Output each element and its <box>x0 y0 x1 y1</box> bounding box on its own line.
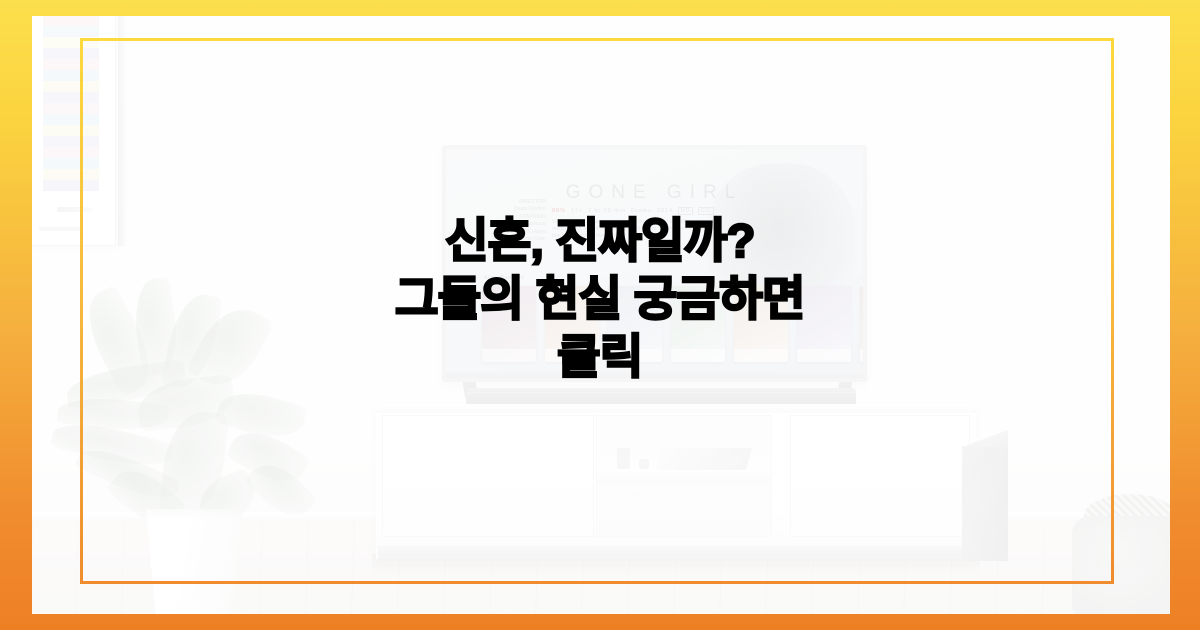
potted-plant <box>52 271 324 614</box>
tv-credits: DIRECTOR David Fincher STARRING Ben Affl… <box>484 199 546 243</box>
tv-year: 2014 <box>657 208 673 214</box>
tv-poster <box>482 286 536 362</box>
laptop <box>656 448 752 470</box>
tv-poster <box>608 286 662 362</box>
tv-score: 88% <box>552 208 566 214</box>
living-room-photo: GONE GIRL DIRECTOR David Fincher STARRIN… <box>32 16 1170 614</box>
tv-genre: Drama <box>631 208 652 214</box>
tv-rating: 17+ <box>571 208 583 214</box>
thumbnail-card: GONE GIRL DIRECTOR David Fincher STARRIN… <box>0 0 1200 630</box>
tv-poster <box>860 286 867 362</box>
artwork-stripes <box>43 16 99 197</box>
console-door-right <box>790 415 970 537</box>
tv-credit-cast: Ben Affleck Rosamund Pike Neil Patrick H… <box>492 221 546 242</box>
tv-poster <box>545 286 599 362</box>
knitted-pouf <box>1072 516 1170 614</box>
framed-striped-artwork <box>32 16 116 246</box>
artwork-signature <box>57 207 93 212</box>
remote-control <box>617 448 630 469</box>
console-kickplate <box>378 546 974 559</box>
photo-plate: GONE GIRL DIRECTOR David Fincher STARRIN… <box>32 16 1170 614</box>
streaming-box <box>639 459 649 469</box>
artwork-frame-edge <box>118 16 127 246</box>
tv-poster <box>671 286 725 362</box>
floor-speaker-tower <box>962 446 1008 561</box>
tv-meta-row: 88% 17+ 2 hr 29 min Drama 2014 HD CC <box>552 207 714 215</box>
tv-runtime: 2 hr 29 min <box>588 208 626 214</box>
tv-row-label: Also Watched <box>484 275 524 281</box>
console-shelf-board <box>597 470 771 483</box>
tv-cc-badge: CC <box>698 207 714 215</box>
flat-screen-tv: GONE GIRL DIRECTOR David Fincher STARRIN… <box>442 145 867 382</box>
tv-poster <box>797 286 851 362</box>
tv-console <box>376 404 976 559</box>
tv-poster <box>734 286 788 362</box>
tv-hd-badge: HD <box>678 207 694 215</box>
artwork-caption <box>39 227 83 231</box>
plant-pot <box>138 509 250 614</box>
tv-description: With his wife's disappearance having bec… <box>552 219 720 241</box>
tv-screen: GONE GIRL DIRECTOR David Fincher STARRIN… <box>446 149 863 378</box>
tv-credit-role-director: DIRECTOR <box>484 199 546 206</box>
tv-credit-role-starring: STARRING <box>484 214 546 221</box>
tv-poster-row <box>482 286 867 362</box>
tv-bottom-bezel <box>446 371 863 378</box>
console-open-shelf <box>596 415 772 537</box>
console-top-edge <box>376 404 976 413</box>
console-door-left <box>382 415 594 537</box>
tv-credit-director: David Fincher <box>514 206 546 212</box>
